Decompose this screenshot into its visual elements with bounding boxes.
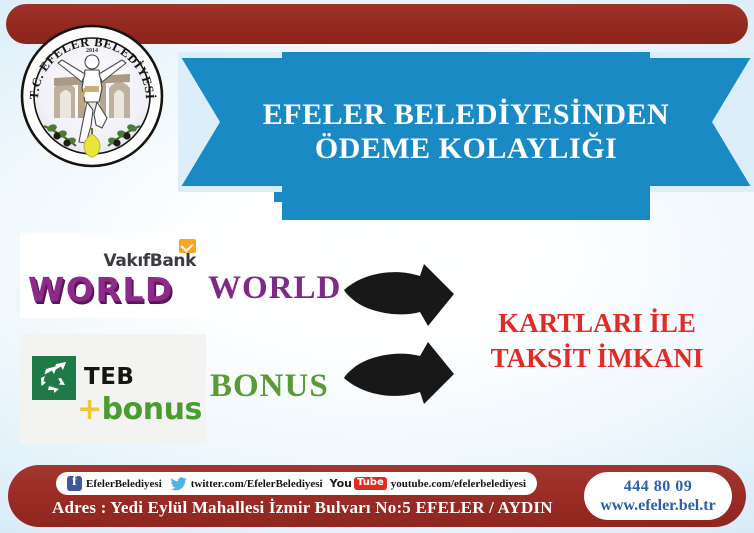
social-links-pill: EfelerBelediyesi twitter.com/EfelerBeled…: [56, 472, 537, 495]
curved-arrow-up-right-icon: [342, 340, 464, 406]
municipality-seal-logo: T.C. EFELER BELEDİYESİ 2014: [18, 22, 166, 170]
address-text: Adres : Yedi Eylül Mahallesi İzmir Bulva…: [52, 498, 553, 518]
label-bonus: BONUS: [210, 368, 329, 405]
youtube-label: youtube.com/efelerbelediyesi: [391, 478, 526, 490]
contact-pill: 444 80 09 www.efeler.bel.tr: [584, 472, 732, 520]
banner-line-1: EFELER BELEDİYESİNDEN: [178, 98, 754, 132]
twitter-label: twitter.com/EfelerBelediyesi: [191, 478, 323, 490]
teb-mark-icon: [32, 356, 76, 400]
poster-canvas: T.C. EFELER BELEDİYESİ 2014: [0, 0, 754, 533]
banner-headline: EFELER BELEDİYESİNDEN ÖDEME KOLAYLIĞI: [178, 98, 754, 165]
vakifbank-name: VakıfBank: [104, 251, 196, 271]
headline-line-2: TAKSİT İMKANI: [452, 341, 742, 376]
bonus-text: bonus: [102, 392, 202, 427]
bonus-wordmark: +bonus: [77, 392, 202, 427]
card-logo-teb-bonus: TEB +bonus: [20, 334, 206, 444]
banner-line-2: ÖDEME KOLAYLIĞI: [178, 132, 754, 166]
footer-band: EfelerBelediyesi twitter.com/EfelerBeled…: [8, 465, 746, 527]
youtube-tube-text: Tube: [354, 477, 387, 491]
svg-text:2014: 2014: [86, 48, 98, 54]
youtube-icon[interactable]: You Tube: [330, 477, 387, 491]
phone-number[interactable]: 444 80 09: [624, 478, 693, 496]
card-logo-vakifbank-world: VakıfBank WORLD: [20, 233, 206, 318]
teb-wordmark: TEB: [84, 364, 134, 390]
installment-headline: KARTLARI İLE TAKSİT İMKANI: [452, 306, 742, 376]
world-wordmark: WORLD: [28, 270, 174, 309]
social-item-twitter[interactable]: twitter.com/EfelerBelediyesi: [169, 477, 323, 491]
twitter-icon[interactable]: [169, 477, 187, 491]
facebook-icon[interactable]: [67, 476, 82, 491]
facebook-label: EfelerBelediyesi: [86, 478, 162, 490]
label-world: WORLD: [208, 270, 341, 307]
social-item-youtube[interactable]: You Tube youtube.com/efelerbelediyesi: [330, 477, 526, 491]
website-url[interactable]: www.efeler.bel.tr: [600, 497, 715, 515]
headline-line-1: KARTLARI İLE: [452, 306, 742, 341]
social-item-facebook[interactable]: EfelerBelediyesi: [67, 476, 162, 491]
curved-arrow-down-right-icon: [342, 262, 464, 328]
bonus-plus-sign: +: [77, 392, 102, 427]
youtube-you-text: You: [330, 477, 352, 490]
